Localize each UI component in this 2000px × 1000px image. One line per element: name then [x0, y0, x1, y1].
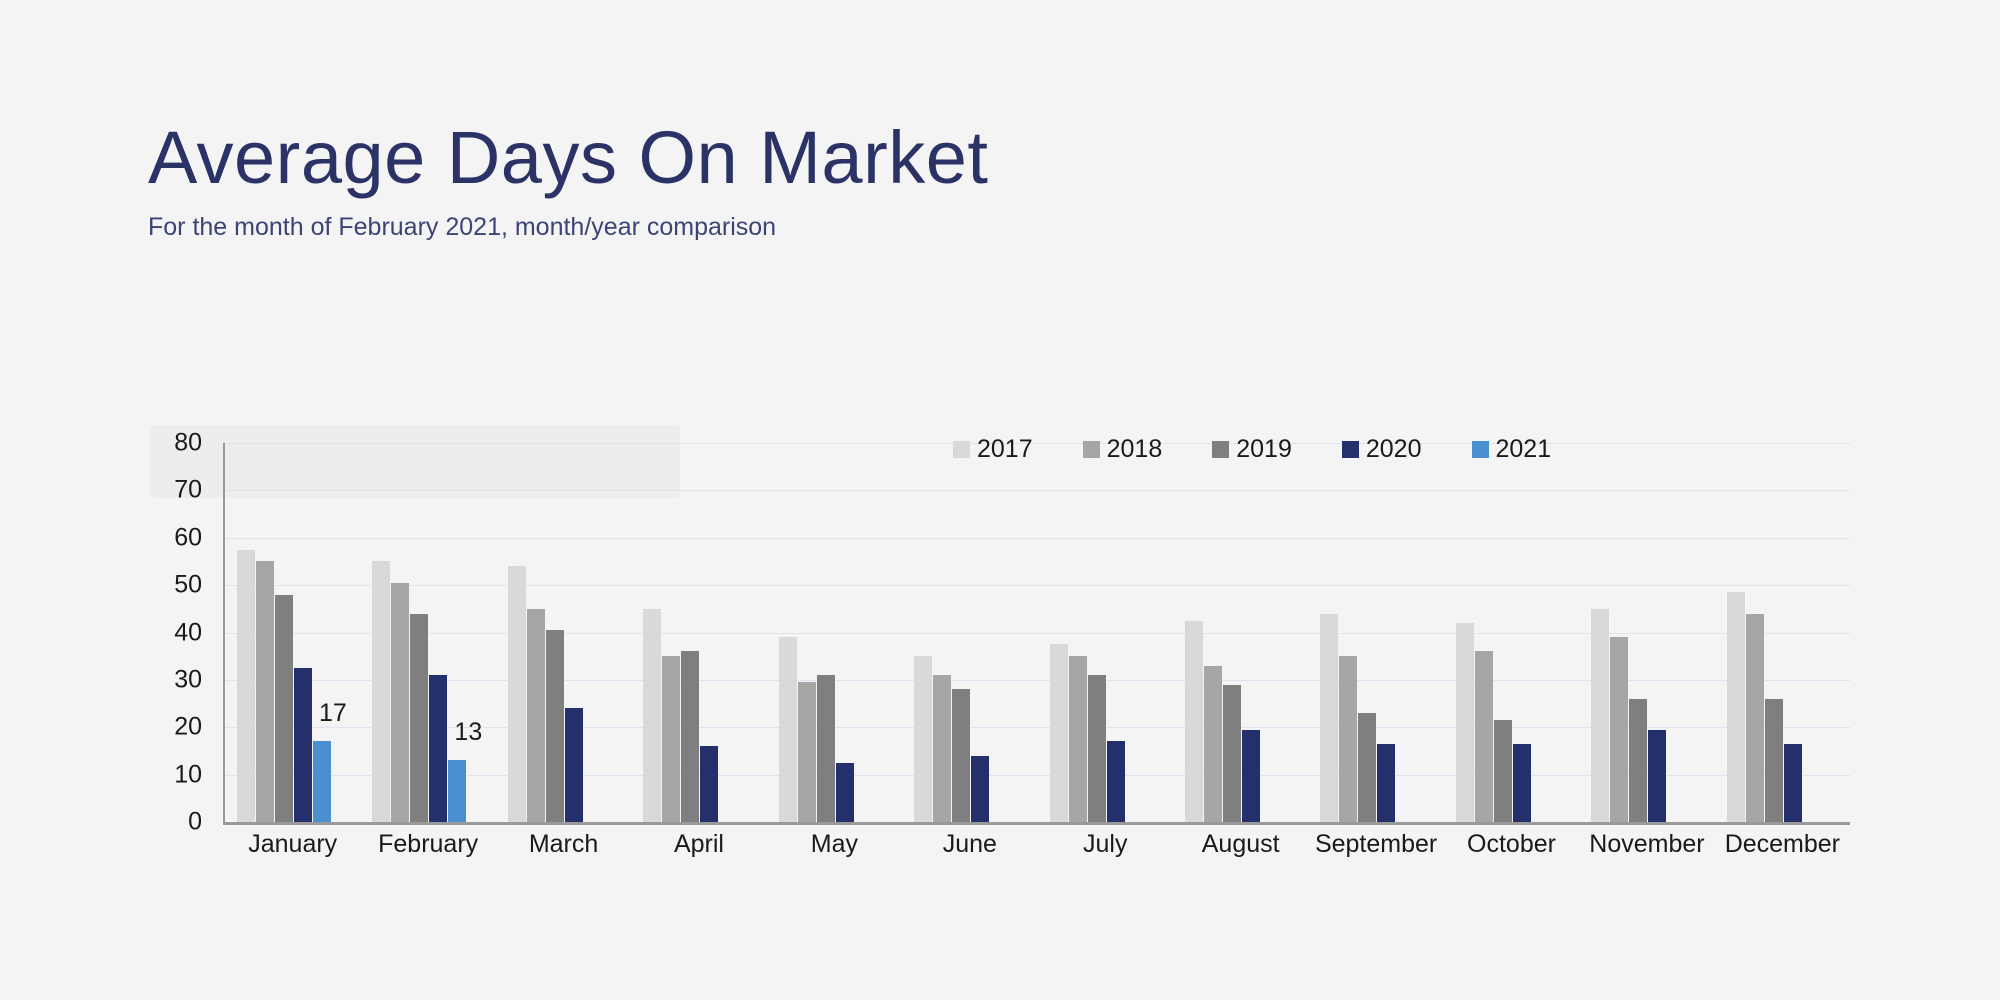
y-tick-label: 30 — [174, 665, 202, 694]
legend-item-2019[interactable]: 2019 — [1212, 435, 1292, 464]
bar-2018[interactable] — [933, 675, 951, 822]
y-tick-label: 80 — [174, 429, 202, 458]
legend-item-2020[interactable]: 2020 — [1342, 435, 1422, 464]
bar-group — [1038, 443, 1173, 822]
x-tick-label: August — [1173, 830, 1308, 870]
x-tick-label: October — [1444, 830, 1579, 870]
legend-label: 2018 — [1107, 435, 1163, 464]
bar-group — [1308, 443, 1443, 822]
slide-canvas: Average Days On Market For the month of … — [0, 0, 2000, 1000]
bar-2017[interactable] — [914, 656, 932, 822]
chart-legend: 20172018201920202021 — [953, 435, 1551, 464]
bar-2018[interactable] — [256, 561, 274, 822]
legend-label: 2021 — [1496, 435, 1552, 464]
x-tick-label: May — [767, 830, 902, 870]
bar-2019[interactable] — [952, 689, 970, 822]
bar-2021[interactable]: 13 — [448, 760, 466, 822]
bar-2017[interactable] — [237, 550, 255, 822]
bar-2020[interactable] — [1784, 744, 1802, 822]
legend-swatch-icon — [1342, 441, 1359, 458]
x-tick-label: March — [496, 830, 631, 870]
bar-2020[interactable] — [294, 668, 312, 822]
page-title: Average Days On Market — [148, 118, 1548, 198]
bar-2017[interactable] — [508, 566, 526, 822]
bar-group — [1173, 443, 1308, 822]
bar-group: 17 — [225, 443, 360, 822]
x-tick-label: April — [631, 830, 766, 870]
bar-2020[interactable] — [1648, 730, 1666, 822]
bar-2017[interactable] — [643, 609, 661, 822]
x-tick-label: February — [360, 830, 495, 870]
bar-2018[interactable] — [391, 583, 409, 822]
bar-group: 13 — [360, 443, 495, 822]
bar-2018[interactable] — [1610, 637, 1628, 822]
bar-2020[interactable] — [1377, 744, 1395, 822]
bar-2018[interactable] — [1746, 614, 1764, 822]
bar-2020[interactable] — [1107, 741, 1125, 822]
legend-swatch-icon — [1212, 441, 1229, 458]
y-axis: 80706050403020100 — [150, 425, 212, 825]
bar-2019[interactable] — [410, 614, 428, 822]
legend-item-2021[interactable]: 2021 — [1472, 435, 1552, 464]
bar-2018[interactable] — [1475, 651, 1493, 822]
bar-2019[interactable] — [681, 651, 699, 822]
y-tick-label: 20 — [174, 713, 202, 742]
bar-2017[interactable] — [1456, 623, 1474, 822]
bar-2017[interactable] — [1727, 592, 1745, 822]
bar-2017[interactable] — [372, 561, 390, 822]
bar-2019[interactable] — [817, 675, 835, 822]
bar-group — [767, 443, 902, 822]
bar-chart: 80706050403020100 1713 20172018201920202… — [150, 425, 1850, 825]
y-tick-label: 50 — [174, 571, 202, 600]
bar-2019[interactable] — [1223, 685, 1241, 822]
bar-2020[interactable] — [429, 675, 447, 822]
legend-label: 2019 — [1236, 435, 1292, 464]
data-label: 13 — [454, 718, 482, 747]
bar-2020[interactable] — [565, 708, 583, 822]
bar-2020[interactable] — [971, 756, 989, 822]
y-tick-label: 40 — [174, 618, 202, 647]
bar-2018[interactable] — [1204, 666, 1222, 822]
bar-2017[interactable] — [779, 637, 797, 822]
bar-2018[interactable] — [527, 609, 545, 822]
bar-2020[interactable] — [1242, 730, 1260, 822]
bar-2019[interactable] — [275, 595, 293, 822]
bar-group — [496, 443, 631, 822]
legend-item-2018[interactable]: 2018 — [1083, 435, 1163, 464]
legend-label: 2020 — [1366, 435, 1422, 464]
bar-2020[interactable] — [1513, 744, 1531, 822]
bar-group — [1444, 443, 1579, 822]
bar-2018[interactable] — [662, 656, 680, 822]
y-tick-label: 70 — [174, 476, 202, 505]
bar-2017[interactable] — [1320, 614, 1338, 822]
legend-swatch-icon — [1472, 441, 1489, 458]
x-tick-label: September — [1308, 830, 1443, 870]
y-tick-label: 10 — [174, 760, 202, 789]
x-tick-label: July — [1038, 830, 1173, 870]
bar-2017[interactable] — [1591, 609, 1609, 822]
bar-group — [902, 443, 1037, 822]
y-tick-label: 60 — [174, 523, 202, 552]
bar-2018[interactable] — [1339, 656, 1357, 822]
bar-2020[interactable] — [836, 763, 854, 822]
x-tick-label: June — [902, 830, 1037, 870]
bar-group — [1715, 443, 1850, 822]
y-tick-label: 0 — [188, 808, 202, 837]
bar-2020[interactable] — [700, 746, 718, 822]
x-tick-label: November — [1579, 830, 1714, 870]
bar-2019[interactable] — [546, 630, 564, 822]
data-label: 17 — [319, 699, 347, 728]
legend-swatch-icon — [953, 441, 970, 458]
x-axis: JanuaryFebruaryMarchAprilMayJuneJulyAugu… — [225, 830, 1850, 870]
x-axis-line — [223, 822, 1850, 825]
bar-2019[interactable] — [1629, 699, 1647, 822]
legend-label: 2017 — [977, 435, 1033, 464]
plot-area: 1713 20172018201920202021 — [223, 443, 1850, 825]
x-tick-label: January — [225, 830, 360, 870]
legend-swatch-icon — [1083, 441, 1100, 458]
bar-2019[interactable] — [1765, 699, 1783, 822]
bar-2018[interactable] — [1069, 656, 1087, 822]
bar-2019[interactable] — [1358, 713, 1376, 822]
bar-2019[interactable] — [1494, 720, 1512, 822]
x-tick-label: December — [1715, 830, 1850, 870]
bar-2017[interactable] — [1185, 621, 1203, 822]
bar-2021[interactable]: 17 — [313, 741, 331, 822]
bar-2017[interactable] — [1050, 644, 1068, 822]
heading-block: Average Days On Market For the month of … — [148, 118, 1548, 242]
legend-item-2017[interactable]: 2017 — [953, 435, 1033, 464]
bar-group — [631, 443, 766, 822]
bar-groups: 1713 — [225, 443, 1850, 822]
bar-2018[interactable] — [798, 682, 816, 822]
bar-group — [1579, 443, 1714, 822]
page-subtitle: For the month of February 2021, month/ye… — [148, 212, 1548, 242]
bar-2019[interactable] — [1088, 675, 1106, 822]
